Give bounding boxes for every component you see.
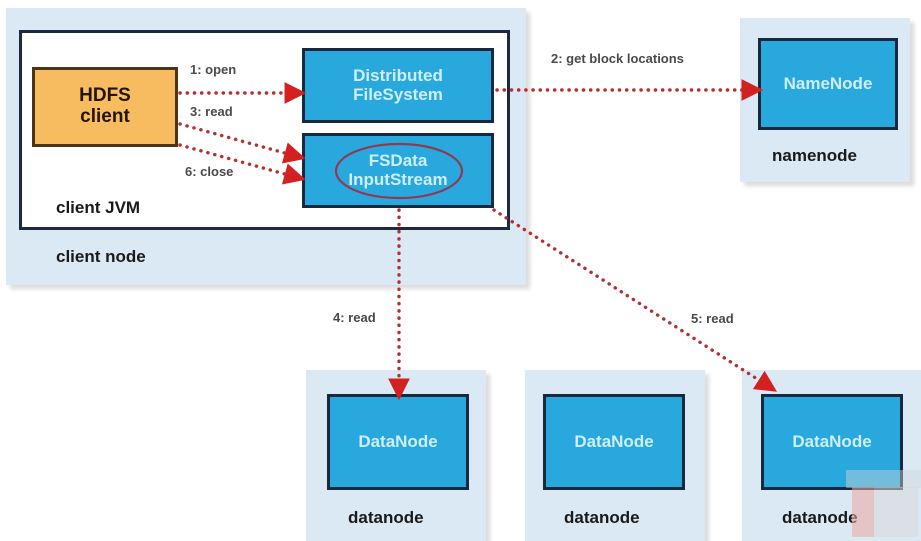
arrow-step-5 [494, 210, 765, 384]
distributed-filesystem-label-line2: FileSystem [353, 86, 443, 104]
distributed-filesystem-label-line1: Distributed [353, 67, 443, 85]
datanode-box-2[interactable]: DataNode [543, 394, 685, 490]
watermark-blob [852, 487, 918, 537]
step-label-4: 4: read [333, 310, 376, 325]
client-jvm-caption: client JVM [56, 198, 140, 218]
watermark-bar [846, 470, 921, 488]
step-label-6: 6: close [185, 164, 233, 179]
fsdata-inputstream-box[interactable]: FSData InputStream [302, 133, 494, 208]
datanode-caption-3: datanode [782, 508, 858, 528]
datanode-box-1[interactable]: DataNode [327, 394, 469, 490]
hdfs-read-diagram: HDFS client Distributed FileSystem FSDat… [0, 0, 921, 541]
distributed-filesystem-box[interactable]: Distributed FileSystem [302, 48, 494, 123]
client-node-caption: client node [56, 247, 146, 267]
datanode-caption-1: datanode [348, 508, 424, 528]
hdfs-client-box[interactable]: HDFS client [32, 67, 178, 147]
datanode-label-2: DataNode [574, 433, 653, 451]
step-label-3: 3: read [190, 104, 233, 119]
namenode-label: NameNode [784, 75, 873, 93]
step-label-5: 5: read [691, 311, 734, 326]
step-label-2: 2: get block locations [551, 51, 684, 66]
fsdata-inputstream-label-line2: InputStream [348, 171, 447, 189]
fsdata-inputstream-label-line1: FSData [348, 152, 447, 170]
step-label-1: 1: open [190, 62, 236, 77]
datanode-label-3: DataNode [792, 433, 871, 451]
hdfs-client-label-line1: HDFS [79, 86, 131, 107]
hdfs-client-label-line2: client [79, 107, 131, 128]
namenode-box[interactable]: NameNode [758, 38, 898, 130]
datanode-label-1: DataNode [358, 433, 437, 451]
namenode-caption: namenode [772, 146, 857, 166]
datanode-caption-2: datanode [564, 508, 640, 528]
